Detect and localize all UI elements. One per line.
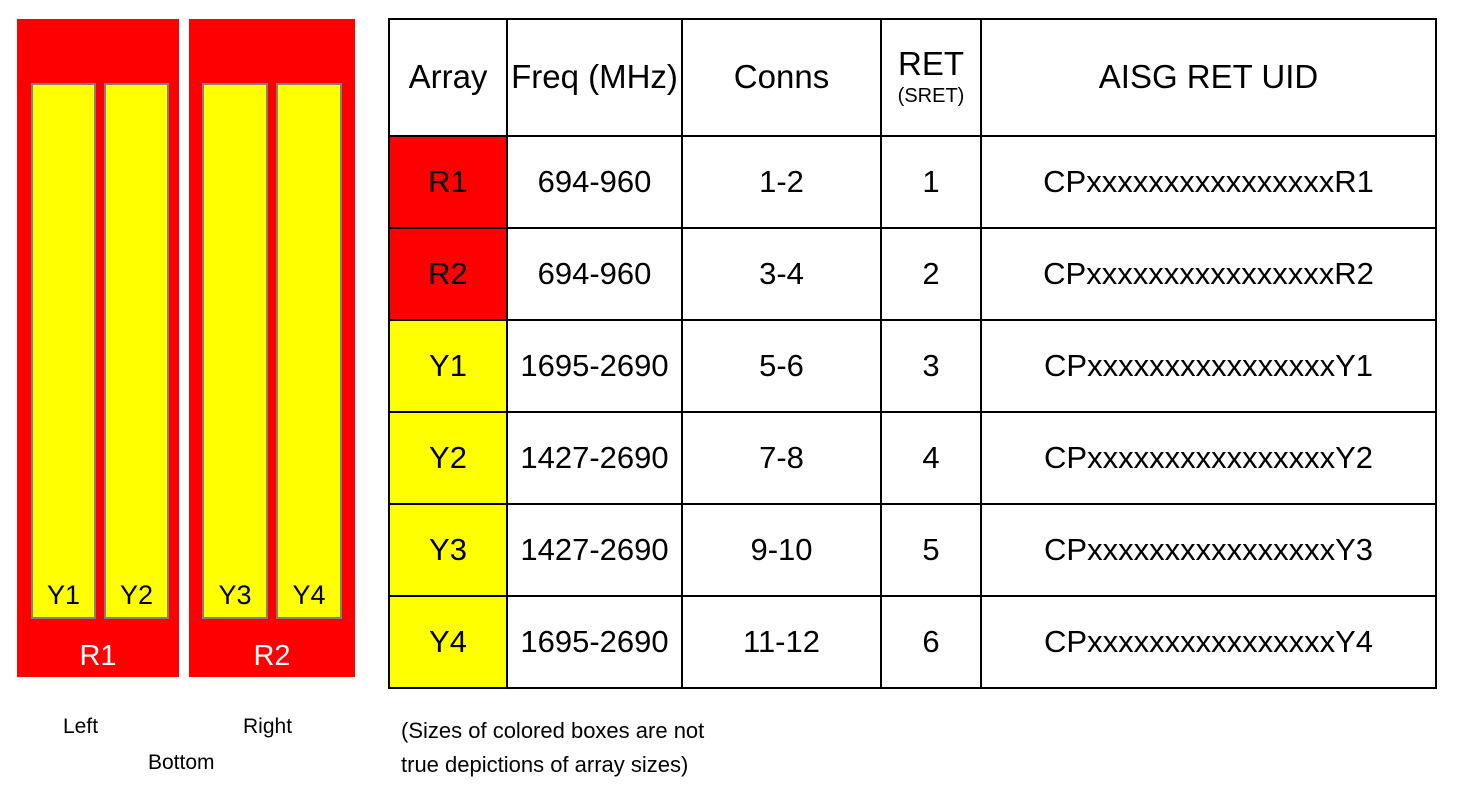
array-bar-y4: Y4 bbox=[276, 83, 342, 619]
caption-line-2: true depictions of array sizes) bbox=[401, 748, 921, 782]
table-row: Y1 1695-2690 5-6 3 CPxxxxxxxxxxxxxxxxY1 bbox=[389, 320, 1436, 412]
antenna-array-diagram: R1 R2 Y1 Y2 Y3 Y4 Left Right Bottom bbox=[0, 0, 380, 798]
cell-freq: 1427-2690 bbox=[507, 412, 682, 504]
table-header-row: Array Freq (MHz) Conns RET (SRET) AISG R… bbox=[389, 19, 1436, 136]
diagram-label-bottom: Bottom bbox=[148, 752, 215, 773]
cell-conns: 11-12 bbox=[682, 596, 881, 688]
array-bar-y3-label: Y3 bbox=[204, 582, 266, 609]
cell-uid: CPxxxxxxxxxxxxxxxxR2 bbox=[981, 228, 1436, 320]
cell-uid: CPxxxxxxxxxxxxxxxxY1 bbox=[981, 320, 1436, 412]
table-row: R2 694-960 3-4 2 CPxxxxxxxxxxxxxxxxR2 bbox=[389, 228, 1436, 320]
column-header-ret-sub: (SRET) bbox=[882, 84, 980, 108]
cell-ret: 1 bbox=[881, 136, 981, 228]
ret-table-container: Array Freq (MHz) Conns RET (SRET) AISG R… bbox=[388, 18, 1435, 686]
table-row: R1 694-960 1-2 1 CPxxxxxxxxxxxxxxxxR1 bbox=[389, 136, 1436, 228]
array-block-r1-label: R1 bbox=[17, 642, 179, 671]
array-bar-y1-label: Y1 bbox=[33, 582, 94, 609]
array-bar-y2: Y2 bbox=[104, 83, 169, 619]
column-header-aisg-ret-uid: AISG RET UID bbox=[981, 19, 1436, 136]
table-row: Y2 1427-2690 7-8 4 CPxxxxxxxxxxxxxxxxY2 bbox=[389, 412, 1436, 504]
diagram-label-left: Left bbox=[63, 716, 98, 737]
cell-conns: 1-2 bbox=[682, 136, 881, 228]
cell-freq: 1427-2690 bbox=[507, 504, 682, 596]
cell-array: Y4 bbox=[389, 596, 507, 688]
cell-array: R1 bbox=[389, 136, 507, 228]
cell-array: R2 bbox=[389, 228, 507, 320]
array-bar-y1: Y1 bbox=[31, 83, 96, 619]
column-header-ret: RET (SRET) bbox=[881, 19, 981, 136]
cell-freq: 1695-2690 bbox=[507, 596, 682, 688]
cell-uid: CPxxxxxxxxxxxxxxxxY3 bbox=[981, 504, 1436, 596]
cell-conns: 5-6 bbox=[682, 320, 881, 412]
array-bar-y3: Y3 bbox=[202, 83, 268, 619]
cell-array: Y2 bbox=[389, 412, 507, 504]
table-caption: (Sizes of colored boxes are not true dep… bbox=[401, 714, 921, 782]
cell-freq: 694-960 bbox=[507, 228, 682, 320]
diagram-label-right: Right bbox=[243, 716, 292, 737]
array-block-r2-label: R2 bbox=[189, 642, 355, 671]
array-bar-y2-label: Y2 bbox=[106, 582, 167, 609]
table-row: Y3 1427-2690 9-10 5 CPxxxxxxxxxxxxxxxxY3 bbox=[389, 504, 1436, 596]
cell-uid: CPxxxxxxxxxxxxxxxxY2 bbox=[981, 412, 1436, 504]
cell-conns: 9-10 bbox=[682, 504, 881, 596]
cell-conns: 3-4 bbox=[682, 228, 881, 320]
column-header-freq: Freq (MHz) bbox=[507, 19, 682, 136]
cell-array: Y1 bbox=[389, 320, 507, 412]
cell-array: Y3 bbox=[389, 504, 507, 596]
cell-freq: 694-960 bbox=[507, 136, 682, 228]
column-header-ret-main: RET bbox=[882, 47, 980, 82]
table-row: Y4 1695-2690 11-12 6 CPxxxxxxxxxxxxxxxxY… bbox=[389, 596, 1436, 688]
cell-ret: 3 bbox=[881, 320, 981, 412]
cell-freq: 1695-2690 bbox=[507, 320, 682, 412]
ret-table: Array Freq (MHz) Conns RET (SRET) AISG R… bbox=[388, 18, 1437, 689]
cell-uid: CPxxxxxxxxxxxxxxxxR1 bbox=[981, 136, 1436, 228]
cell-ret: 4 bbox=[881, 412, 981, 504]
cell-ret: 6 bbox=[881, 596, 981, 688]
array-bar-y4-label: Y4 bbox=[278, 582, 340, 609]
caption-line-1: (Sizes of colored boxes are not bbox=[401, 714, 921, 748]
cell-ret: 2 bbox=[881, 228, 981, 320]
column-header-conns: Conns bbox=[682, 19, 881, 136]
column-header-array: Array bbox=[389, 19, 507, 136]
cell-conns: 7-8 bbox=[682, 412, 881, 504]
cell-ret: 5 bbox=[881, 504, 981, 596]
cell-uid: CPxxxxxxxxxxxxxxxxY4 bbox=[981, 596, 1436, 688]
